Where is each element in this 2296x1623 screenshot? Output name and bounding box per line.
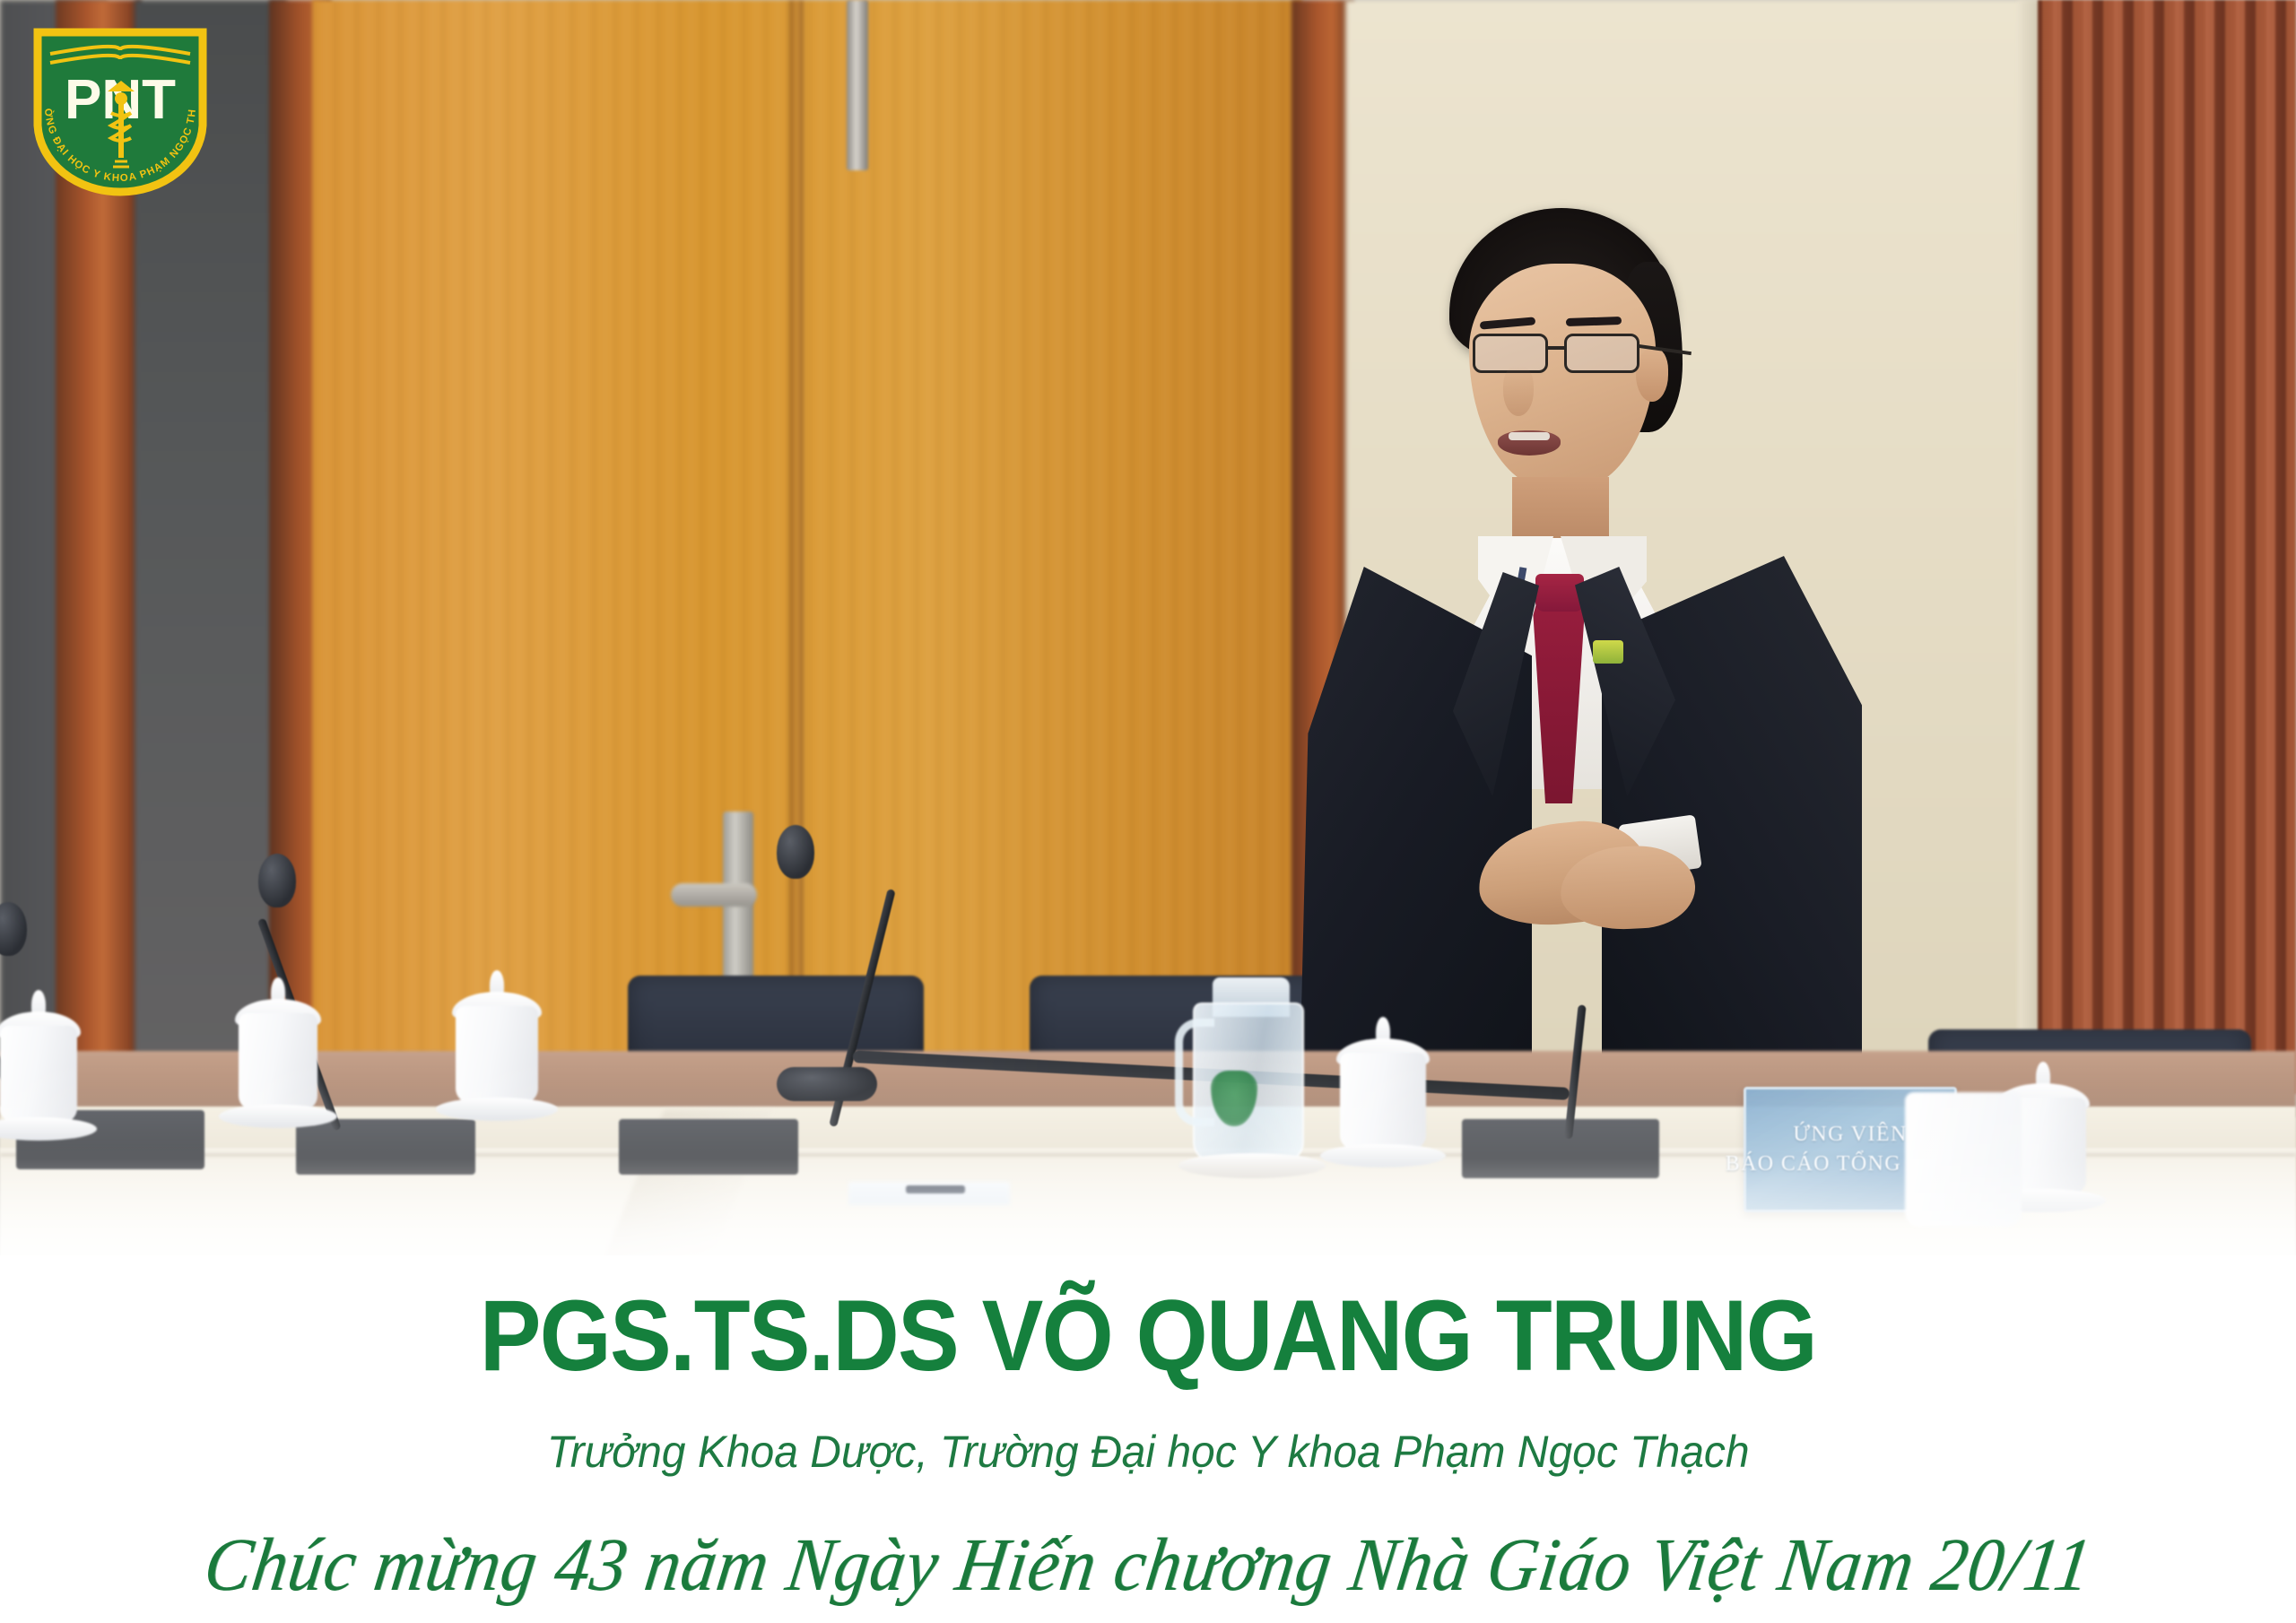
greeting-script-text: Chúc mừng 43 năm Ngày Hiến chương Nhà Gi… <box>199 1521 2097 1608</box>
mic-base-3 <box>619 1119 798 1175</box>
greeting-card: ỨNG VIÊN BÁO CÁO TỔNG QUAN PNT <box>0 0 2296 1623</box>
necktie-knot <box>1535 574 1584 612</box>
mug-occluding-placard <box>1905 1092 2022 1227</box>
door-hinge <box>847 0 868 170</box>
nose <box>1503 366 1534 416</box>
caption-block: PGS.TS.DS VÕ QUANG TRUNG Trưởng Khoa Dượ… <box>0 1255 2296 1623</box>
mic-head-2 <box>258 854 296 907</box>
mic-head-4 <box>777 1067 877 1101</box>
glasses-bridge <box>1548 346 1566 350</box>
pnt-university-logo: PNT TRƯỜNG ĐẠI HỌC Y KHOA PHẠM NGỌC THẠC… <box>25 20 215 199</box>
mic-base-2 <box>296 1119 475 1175</box>
door-seam <box>789 0 804 1058</box>
face <box>1469 264 1656 490</box>
slatted-wood-wall <box>2038 0 2296 1094</box>
speaker-person <box>1352 208 1855 1105</box>
cup-4 <box>1340 1022 1426 1180</box>
mic-head-3 <box>777 825 814 879</box>
water-pitcher <box>1186 977 1318 1173</box>
cup-saucer <box>1320 1144 1446 1167</box>
cup-saucer <box>219 1105 337 1128</box>
cup-body <box>1340 1053 1426 1150</box>
door-handle-lever <box>671 883 757 907</box>
wooden-door <box>312 0 1302 1058</box>
lens-right <box>1564 334 1639 373</box>
cup-body <box>0 1026 77 1123</box>
person-role-subtitle: Trưởng Khoa Dược, Trường Đại học Y khoa … <box>547 1426 1750 1478</box>
pitcher-handle <box>1175 1019 1214 1126</box>
teeth <box>1509 432 1550 440</box>
cup-saucer <box>436 1098 558 1121</box>
eyeglasses <box>1471 334 1659 377</box>
mic-base-4 <box>1462 1119 1659 1178</box>
lapel-badge <box>1593 640 1623 664</box>
placard-line-1: ỨNG VIÊN <box>1793 1123 1907 1147</box>
cup-3 <box>456 976 538 1139</box>
cup-body <box>239 1013 317 1110</box>
person-name-title: PGS.TS.DS VÕ QUANG TRUNG <box>480 1286 1816 1386</box>
conference-photo: ỨNG VIÊN BÁO CÁO TỔNG QUAN <box>0 0 2296 1282</box>
pitcher-saucer <box>1178 1153 1326 1178</box>
cup-1 <box>0 995 77 1148</box>
cup-body <box>456 1006 538 1103</box>
cup-2 <box>239 983 317 1141</box>
pen <box>906 1185 965 1193</box>
